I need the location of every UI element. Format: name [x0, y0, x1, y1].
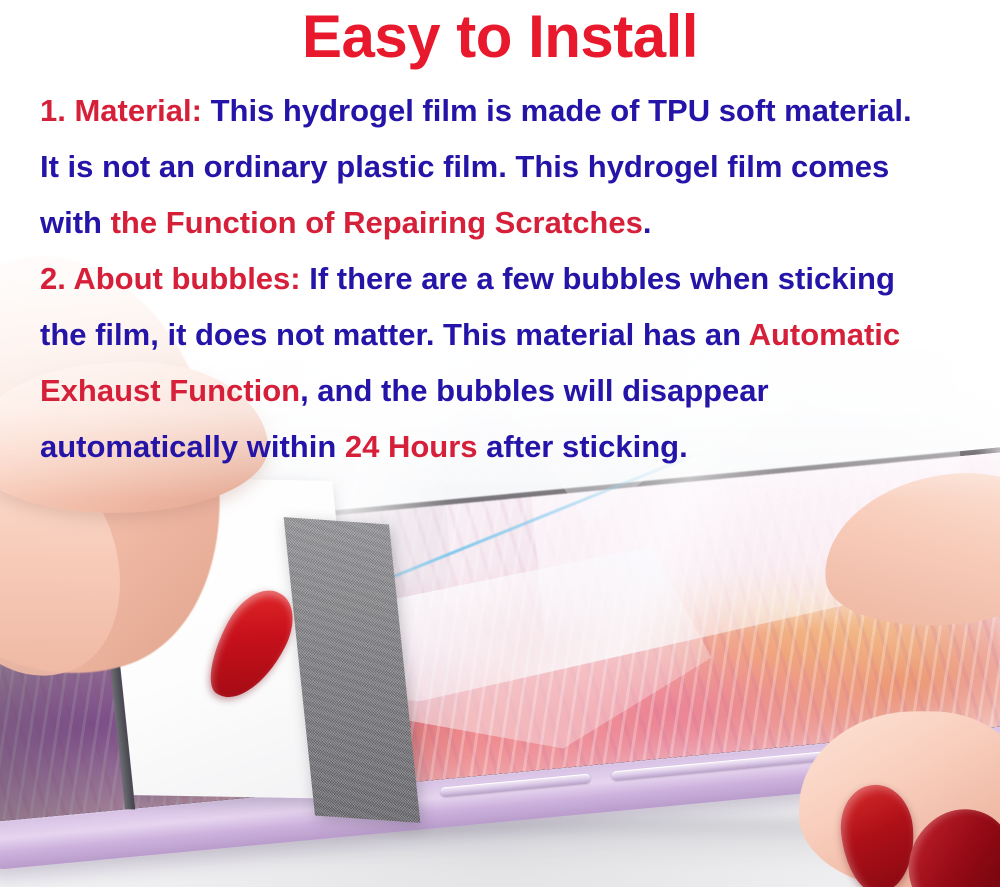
instruction-line-5: the film, it does not matter. This mater… [40, 307, 970, 363]
exhaust-suffix: , and the bubbles will disappear [300, 373, 769, 408]
instruction-line-2: It is not an ordinary plastic film. This… [40, 139, 970, 195]
instruction-line-6: Exhaust Function, and the bubbles will d… [40, 363, 970, 419]
repair-suffix: . [643, 205, 652, 240]
material-label: 1. Material: [40, 93, 202, 128]
exhaust-prefix: the film, it does not matter. This mater… [40, 317, 749, 352]
instruction-line-3: with the Function of Repairing Scratches… [40, 195, 970, 251]
repair-prefix: with [40, 205, 111, 240]
instruction-line-4: 2. About bubbles: If there are a few bub… [40, 251, 970, 307]
hours-prefix: automatically within [40, 429, 345, 464]
repair-highlight: the Function of Repairing Scratches [111, 205, 643, 240]
hours-highlight: 24 Hours [345, 429, 478, 464]
instruction-line-7: automatically within 24 Hours after stic… [40, 419, 970, 475]
text-overlay: Easy to Install 1. Material: This hydrog… [0, 0, 1000, 887]
hours-suffix: after sticking. [478, 429, 688, 464]
material-text: This hydrogel film is made of TPU soft m… [202, 93, 912, 128]
page-title: Easy to Install [0, 2, 1000, 71]
bubbles-label: 2. About bubbles: [40, 261, 301, 296]
product-marketing-image: Easy to Install 1. Material: This hydrog… [0, 0, 1000, 887]
material-text-cont: It is not an ordinary plastic film. This… [40, 149, 889, 184]
bubbles-text: If there are a few bubbles when sticking [301, 261, 895, 296]
automatic-highlight: Automatic [749, 317, 901, 352]
instruction-line-1: 1. Material: This hydrogel film is made … [40, 83, 970, 139]
exhaust-highlight: Exhaust Function [40, 373, 300, 408]
instructions-block: 1. Material: This hydrogel film is made … [40, 83, 970, 475]
